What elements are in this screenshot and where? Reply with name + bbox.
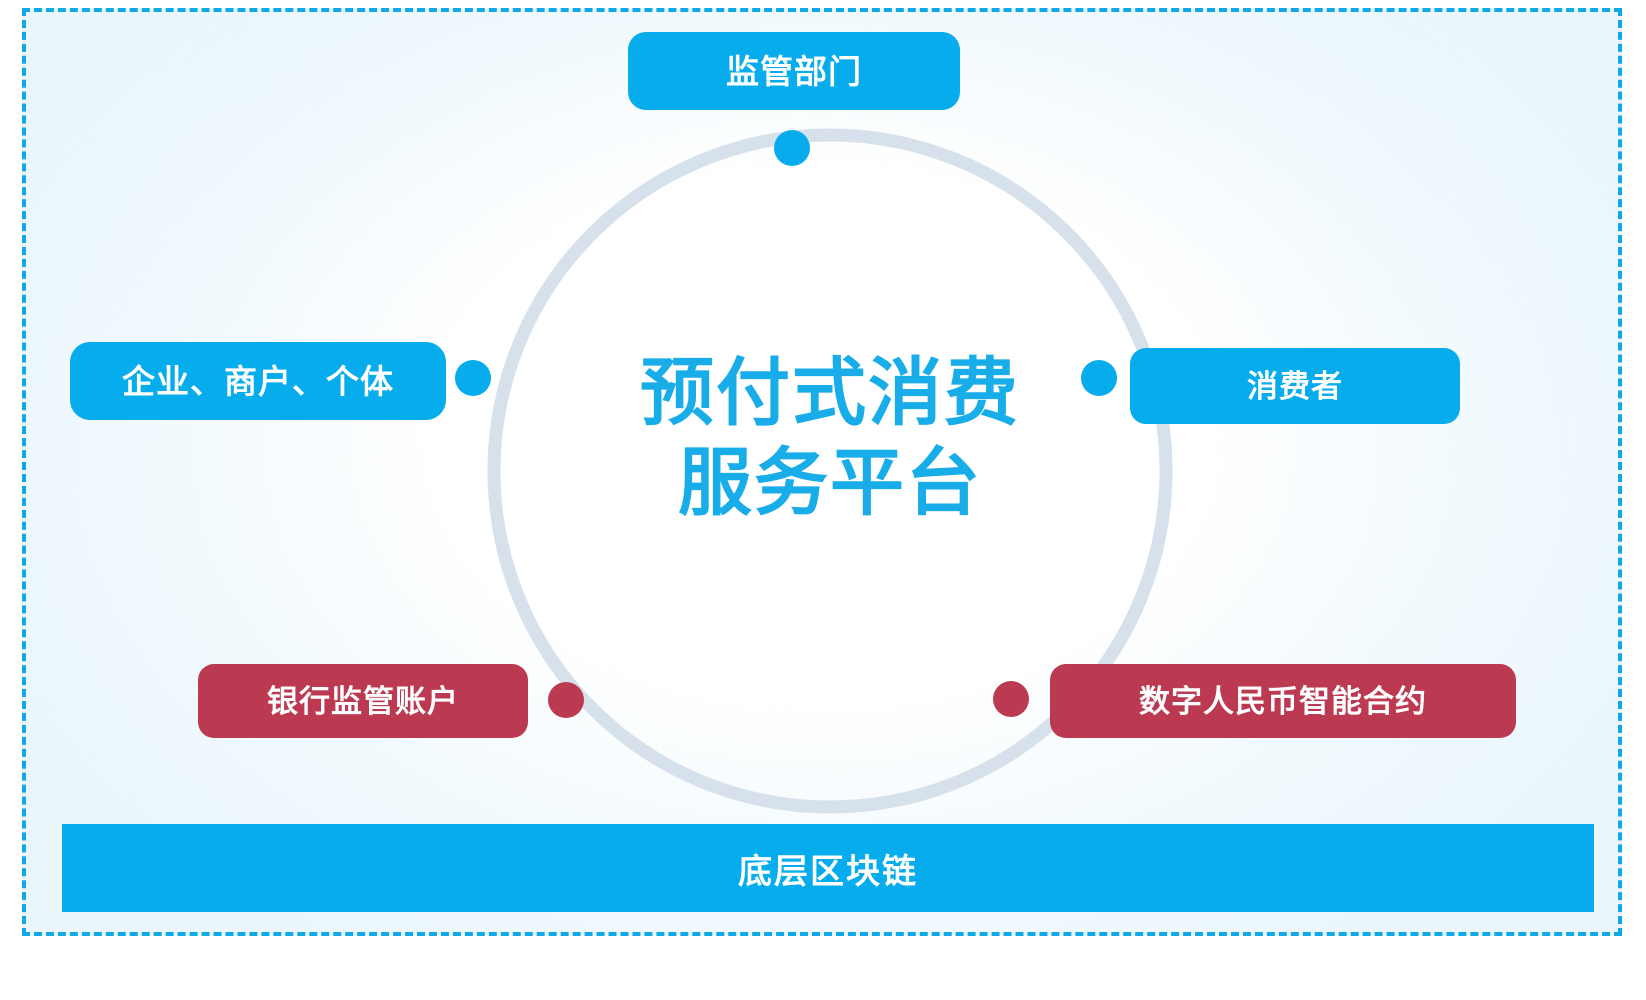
node-consumers[interactable]: 消费者 xyxy=(1130,348,1460,424)
platform-title-line-2: 服务平台 xyxy=(545,438,1115,528)
node-regulator[interactable]: 监管部门 xyxy=(628,32,960,110)
node-bank-account[interactable]: 银行监管账户 xyxy=(198,664,528,738)
platform-title: 预付式消费 服务平台 xyxy=(545,348,1115,529)
foundation-blockchain-bar[interactable]: 底层区块链 xyxy=(62,824,1594,912)
node-enterprises[interactable]: 企业、商户、个体 xyxy=(70,342,446,420)
node-smart-contract[interactable]: 数字人民币智能合约 xyxy=(1050,664,1516,738)
platform-title-line-1: 预付式消费 xyxy=(545,348,1115,438)
diagram-canvas: 预付式消费 服务平台 监管部门 企业、商户、个体 消费者 银行监管账户 数字人民… xyxy=(0,0,1646,1000)
